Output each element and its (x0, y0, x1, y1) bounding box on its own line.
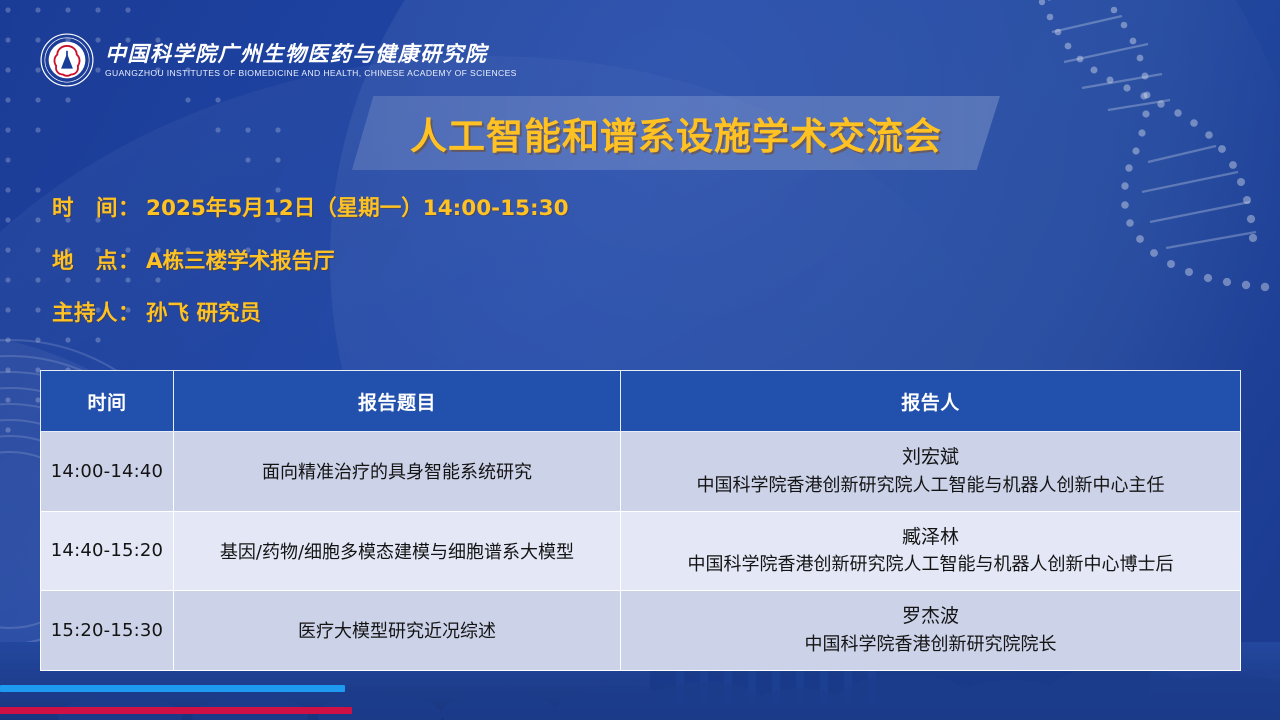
cell-topic: 医疗大模型研究近况综述 (174, 591, 621, 671)
cell-time: 14:00-14:40 (41, 432, 174, 512)
institution-name-cn: 中国科学院广州生物医药与健康研究院 (105, 43, 517, 64)
schedule-table: 时间 报告题目 报告人 14:00-14:40 面向精准治疗的具身智能系统研究 … (40, 370, 1241, 671)
table-row: 14:00-14:40 面向精准治疗的具身智能系统研究 刘宏斌 中国科学院香港创… (41, 432, 1241, 512)
cell-speaker: 刘宏斌 中国科学院香港创新研究院人工智能与机器人创新中心主任 (621, 432, 1241, 512)
info-row-time: 时 间： 2025年5月12日（星期一）14:00-15:30 (52, 198, 952, 220)
speaker-name: 臧泽林 (629, 524, 1232, 552)
speaker-name: 刘宏斌 (629, 444, 1232, 472)
table-row: 14:40-15:20 基因/药物/细胞多模态建模与细胞谱系大模型 臧泽林 中国… (41, 511, 1241, 591)
page-title: 人工智能和谱系设施学术交流会 (352, 96, 1000, 170)
event-info: 时 间： 2025年5月12日（星期一）14:00-15:30 地 点： A栋三… (52, 198, 952, 356)
cell-topic: 面向精准治疗的具身智能系统研究 (174, 432, 621, 512)
table-header-row: 时间 报告题目 报告人 (41, 371, 1241, 432)
gibh-plum-blossom-emblem-icon: GIBH (40, 33, 94, 87)
speaker-title: 中国科学院香港创新研究院人工智能与机器人创新中心主任 (629, 472, 1232, 499)
poster-canvas: GIBH 中国科学院广州生物医药与健康研究院 GUANGZHOU INSTITU… (0, 0, 1280, 720)
info-row-host: 主持人： 孙飞 研究员 (52, 303, 952, 325)
info-value-location: A栋三楼学术报告厅 (146, 251, 335, 273)
accent-rule-blue (0, 685, 345, 692)
info-row-location: 地 点： A栋三楼学术报告厅 (52, 251, 952, 273)
cell-speaker: 臧泽林 中国科学院香港创新研究院人工智能与机器人创新中心博士后 (621, 511, 1241, 591)
info-label-location: 地 点： (52, 251, 140, 273)
cell-speaker: 罗杰波 中国科学院香港创新研究院院长 (621, 591, 1241, 671)
cell-topic: 基因/药物/细胞多模态建模与细胞谱系大模型 (174, 511, 621, 591)
speaker-title: 中国科学院香港创新研究院院长 (629, 631, 1232, 658)
table-row: 15:20-15:30 医疗大模型研究近况综述 罗杰波 中国科学院香港创新研究院… (41, 591, 1241, 671)
cell-time: 14:40-15:20 (41, 511, 174, 591)
svg-text:GIBH: GIBH (62, 78, 72, 82)
column-header-speaker: 报告人 (621, 371, 1241, 432)
column-header-time: 时间 (41, 371, 174, 432)
info-value-time: 2025年5月12日（星期一）14:00-15:30 (146, 198, 569, 220)
info-value-host: 孙飞 研究员 (146, 303, 261, 325)
institution-name-en: GUANGZHOU INSTITUTES OF BIOMEDICINE AND … (105, 69, 517, 78)
dna-helix-icon (1030, 0, 1280, 310)
speaker-name: 罗杰波 (629, 603, 1232, 631)
column-header-topic: 报告题目 (174, 371, 621, 432)
accent-rule-red (0, 707, 352, 714)
speaker-title: 中国科学院香港创新研究院人工智能与机器人创新中心博士后 (629, 551, 1232, 578)
institution-header: GIBH 中国科学院广州生物医药与健康研究院 GUANGZHOU INSTITU… (40, 33, 517, 87)
info-label-time: 时 间： (52, 198, 140, 220)
cell-time: 15:20-15:30 (41, 591, 174, 671)
info-label-host: 主持人： (52, 303, 140, 325)
